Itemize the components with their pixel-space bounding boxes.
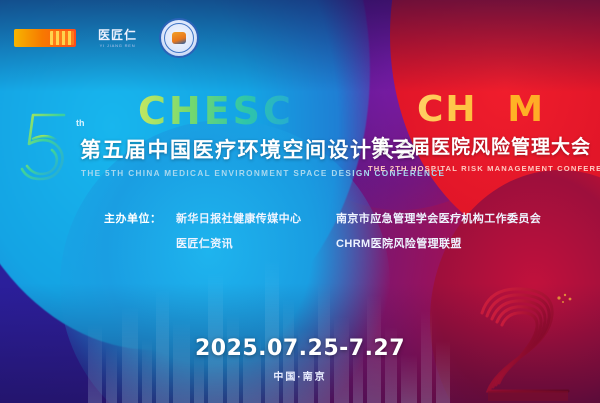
chesc-acronym: CHESC [138, 92, 362, 130]
chrm-acronym-pre: CH [417, 89, 478, 130]
yijiangren-logo: 医匠仁 YI JIANG REN [98, 29, 137, 48]
xinhua-daily-logo [14, 29, 76, 47]
organizers-section: 主办单位： 新华日报社健康传媒中心 医匠仁资讯 南京市应急管理学会医疗机构工作委… [104, 210, 536, 251]
chesc-title-cn: 第五届中国医疗环境空间设计大会 [80, 134, 362, 164]
left-conference-block: CHESC 第五届中国医疗环境空间设计大会 THE 5TH CHINA MEDI… [62, 92, 362, 178]
organizers-column-1: 新华日报社健康传媒中心 医匠仁资讯 [176, 210, 336, 251]
chrm-acronym: CHRM [368, 92, 594, 128]
seal-emblem-icon [172, 32, 186, 44]
organizers-label: 主办单位： [104, 210, 176, 251]
chesc-title-en: THE 5TH CHINA MEDICAL ENVIRONMENT SPACE … [81, 169, 362, 178]
organizer-item: 新华日报社健康传媒中心 [176, 210, 336, 226]
chrm-acronym-flipped-r: R [478, 92, 508, 128]
chrm-title-en: THE 2TH HOSPITAL RISK MANAGEMENT CONFERE… [368, 164, 594, 173]
organizer-item: CHRM医院风险管理联盟 [336, 235, 536, 251]
emergency-association-seal [159, 18, 199, 58]
chrm-title-cn: 第二届医院风险管理大会 [368, 132, 594, 159]
yijiangren-logo-cn: 医匠仁 [98, 29, 137, 41]
organizer-item: 医匠仁资讯 [176, 235, 336, 251]
organizer-item: 南京市应急管理学会医疗机构工作委员会 [336, 210, 536, 226]
event-date: 2025.07.25-7.27 [0, 336, 600, 361]
organizers-column-2: 南京市应急管理学会医疗机构工作委员会 CHRM医院风险管理联盟 [336, 210, 536, 251]
event-city: 中国·南京 [0, 368, 600, 383]
logo-row: 医匠仁 YI JIANG REN [14, 18, 199, 58]
chrm-acronym-post: M [507, 89, 545, 130]
yijiangren-logo-en: YI JIANG REN [100, 44, 136, 48]
conference-poster: 医匠仁 YI JIANG REN th CHESC 第五届中国医疗环境空间设计大… [0, 0, 600, 403]
event-date-block: 2025.07.25-7.27 中国·南京 [0, 336, 600, 383]
right-conference-block: CHRM 第二届医院风险管理大会 THE 2TH HOSPITAL RISK M… [368, 92, 594, 173]
